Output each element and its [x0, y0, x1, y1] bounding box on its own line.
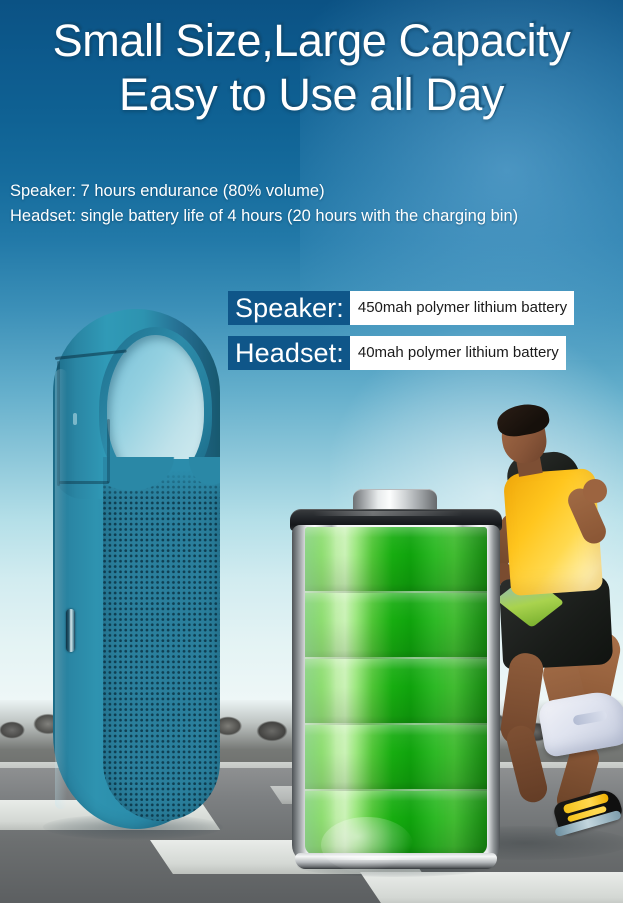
speaker-latch-highlight [73, 413, 77, 425]
battery-segment [305, 593, 487, 659]
usb-charging-port [66, 609, 75, 652]
battery-bottom-cap-shine [317, 856, 457, 860]
battery-segment [305, 725, 487, 791]
speaker-edge-highlight [55, 369, 67, 809]
speaker-product-image [33, 309, 233, 854]
headline-line-1: Small Size,Large Capacity [0, 14, 623, 68]
subtitle-line-speaker: Speaker: 7 hours endurance (80% volume) [10, 179, 518, 204]
battery-top-cap-shine [313, 511, 463, 516]
speaker-grille-mask [103, 457, 220, 515]
spec-value-headset: 40mah polymer lithium battery [350, 336, 566, 370]
battery-level-container [305, 527, 487, 855]
product-banner: Small Size,Large Capacity Easy to Use al… [0, 0, 623, 903]
headline-line-2: Easy to Use all Day [0, 68, 623, 122]
headline: Small Size,Large Capacity Easy to Use al… [0, 14, 623, 122]
spec-label-speaker: Speaker: [228, 291, 350, 325]
subtitle-line-headset: Headset: single battery life of 4 hours … [10, 204, 518, 229]
speaker-latch-line [107, 419, 110, 483]
battery-segment [305, 659, 487, 725]
spec-label-headset: Headset: [228, 336, 350, 370]
spec-row-headset: Headset: 40mah polymer lithium battery [228, 336, 566, 370]
battery-segment [305, 791, 487, 855]
subtitle-block: Speaker: 7 hours endurance (80% volume) … [10, 179, 518, 229]
spec-value-speaker: 450mah polymer lithium battery [350, 291, 574, 325]
battery-indicator-graphic [285, 487, 507, 882]
spec-row-speaker: Speaker: 450mah polymer lithium battery [228, 291, 574, 325]
runner-front-fist [583, 479, 607, 503]
battery-segment [305, 527, 487, 593]
